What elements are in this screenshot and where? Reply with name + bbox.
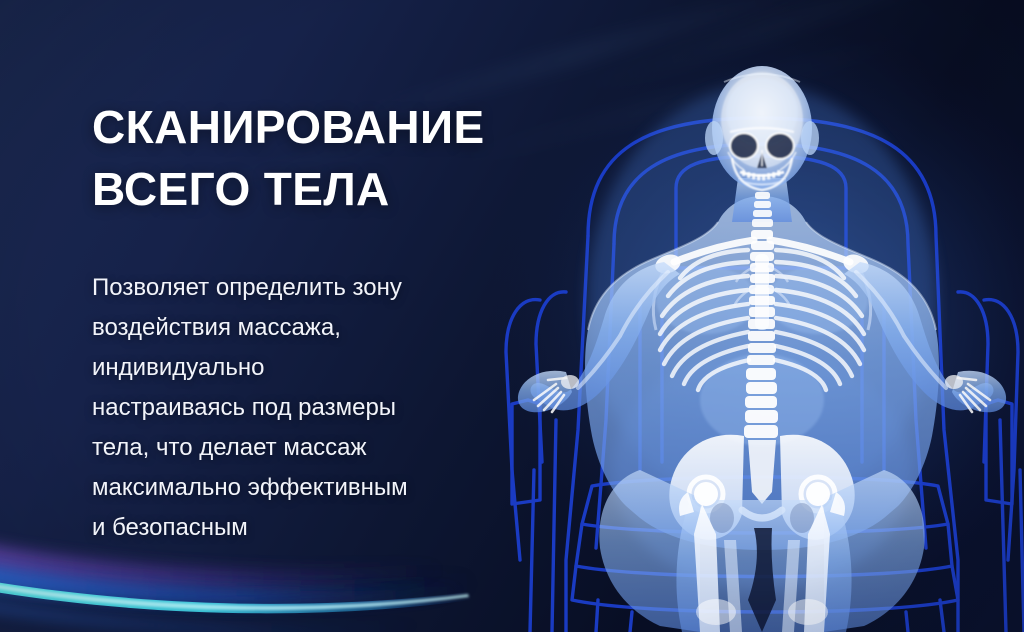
slide-canvas: СКАНИРОВАНИЕ ВСЕГО ТЕЛА Позволяет опреде…	[0, 0, 1024, 632]
description-text: Позволяет определить зону воздействия ма…	[92, 268, 482, 548]
page-title: СКАНИРОВАНИЕ ВСЕГО ТЕЛА	[92, 96, 562, 220]
